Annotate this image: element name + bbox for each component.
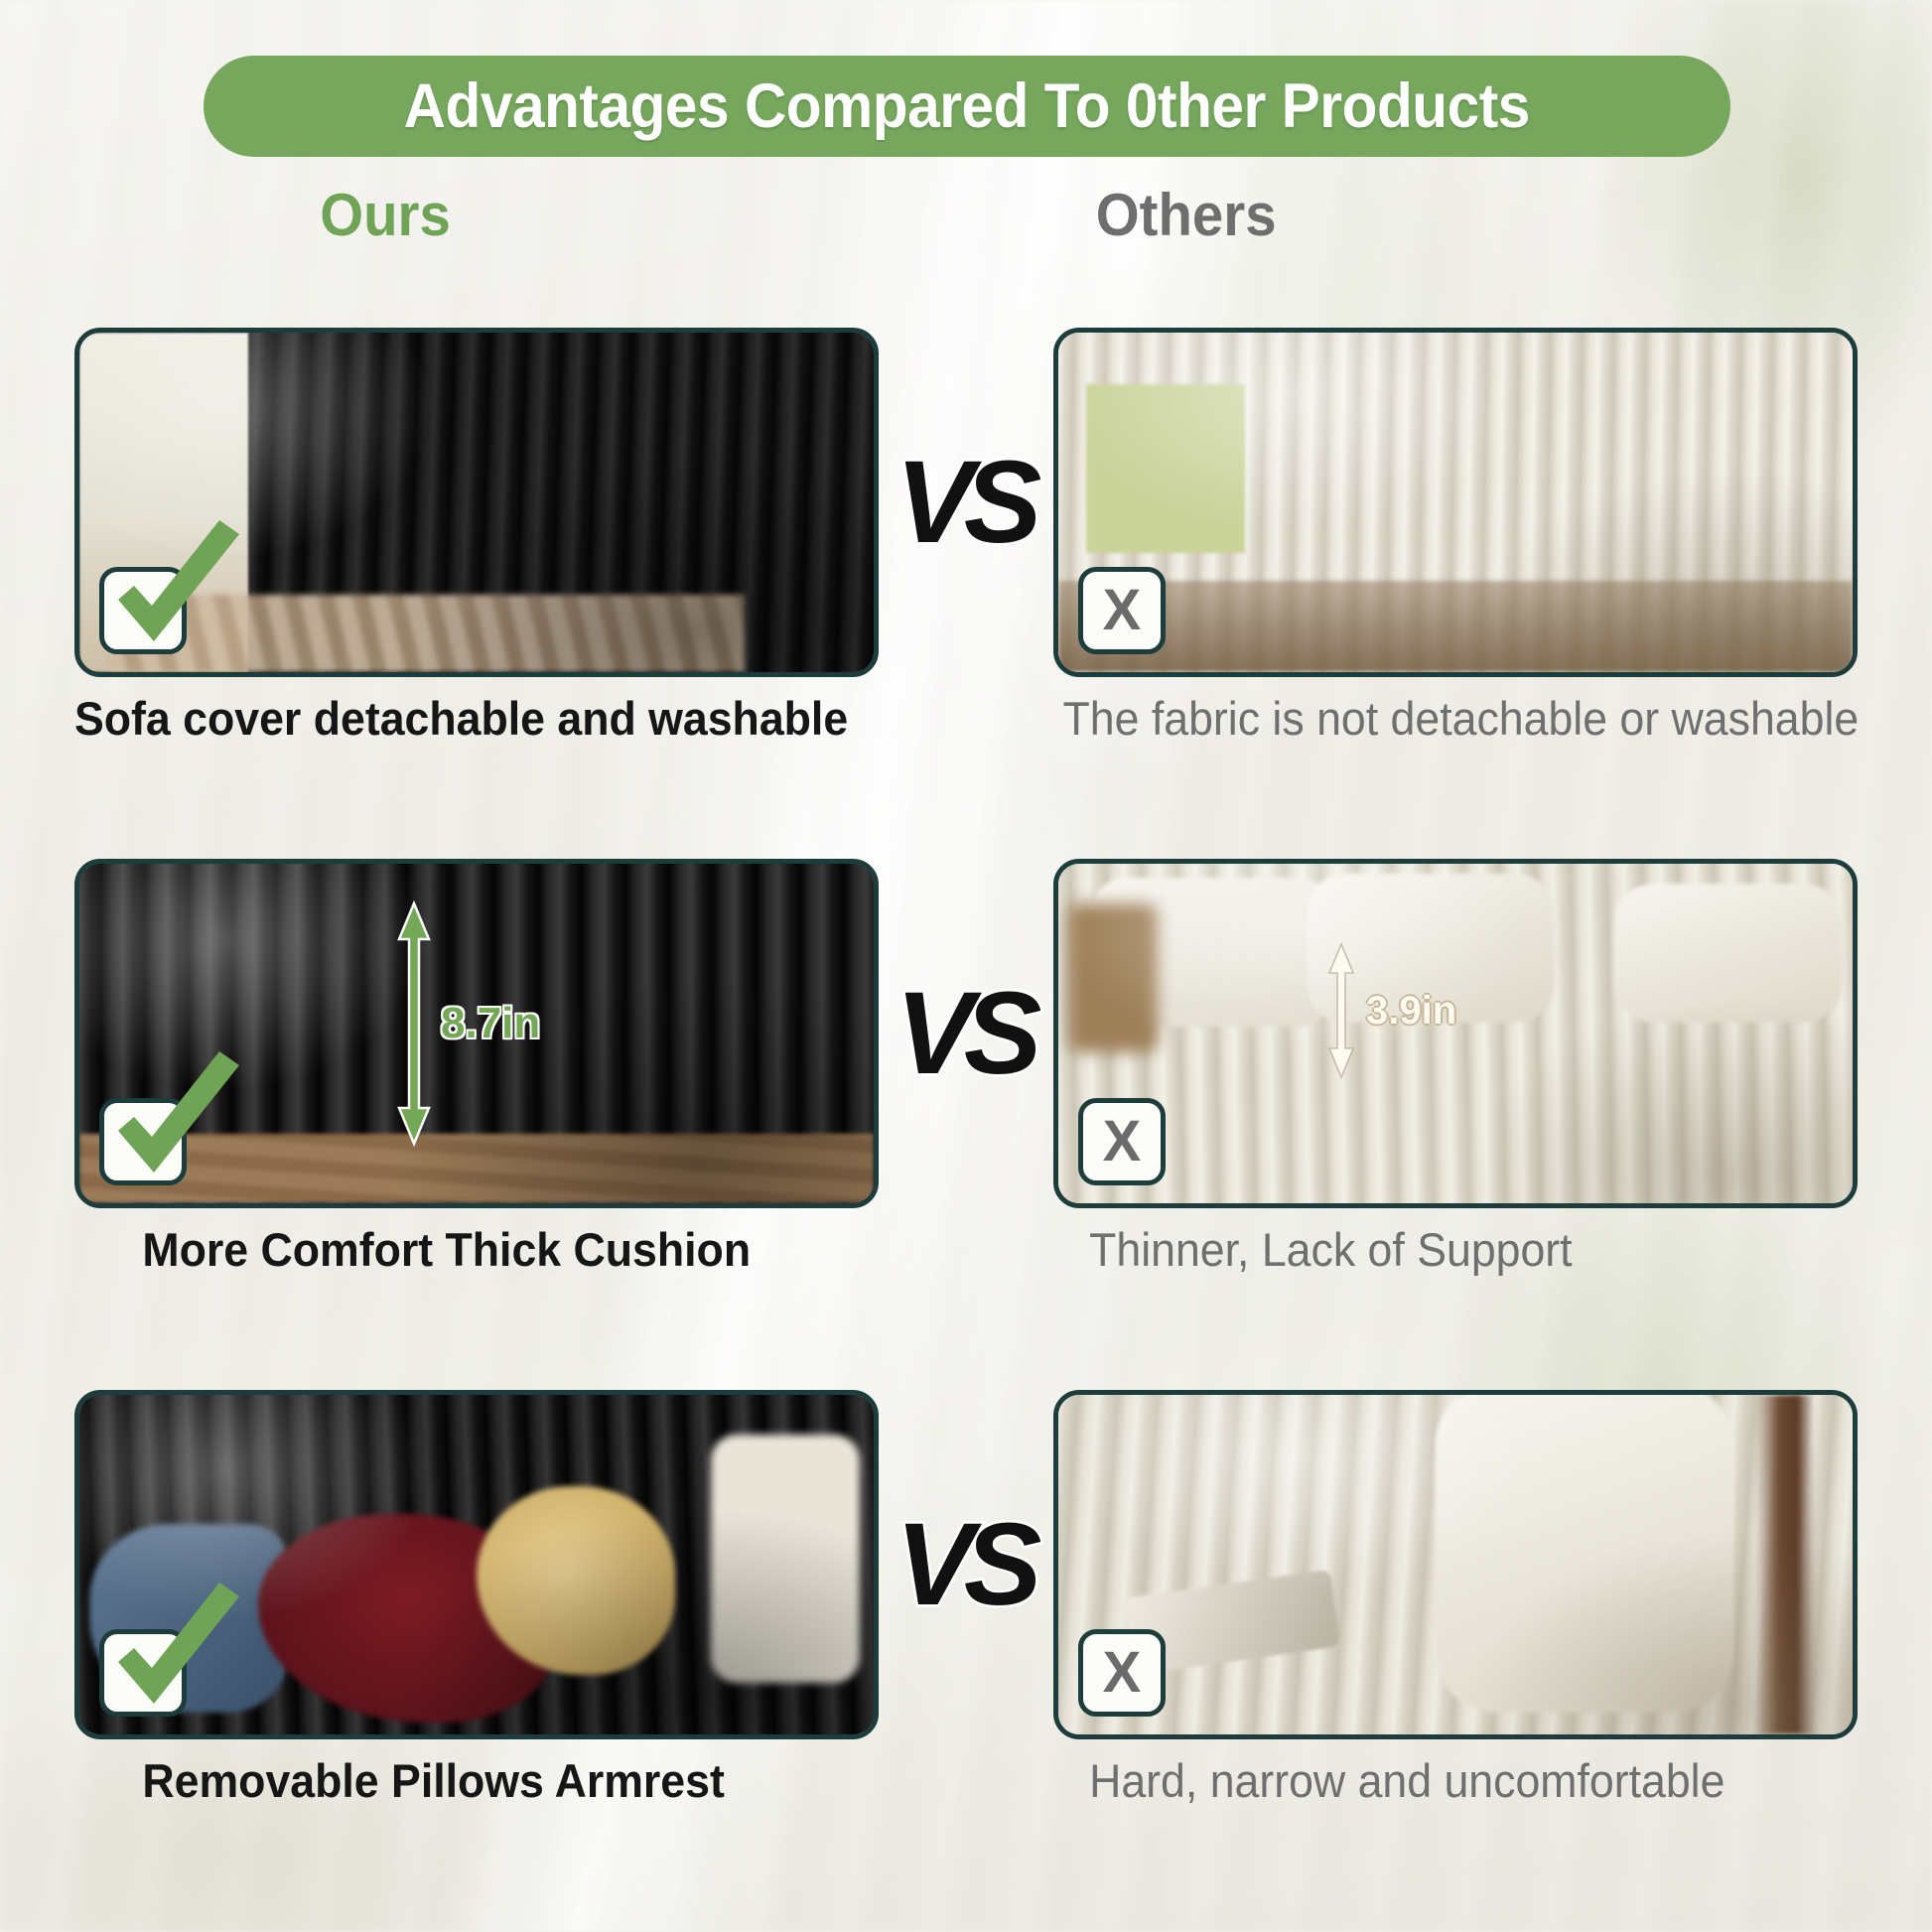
- caption-others: Thinner, Lack of Support: [1053, 1225, 1818, 1274]
- measurement-value-others: 3.9in: [1366, 991, 1456, 1031]
- check-icon: [108, 1069, 247, 1188]
- comparison-row: Removable Pillows Armrest VS: [0, 1390, 1932, 1921]
- photo-panel-ours: [74, 328, 879, 677]
- photo-lighting: [1058, 1395, 1853, 1734]
- comparison-infographic: Advantages Compared To 0ther Products Ou…: [0, 0, 1932, 1932]
- photo-lighting: [1058, 333, 1853, 672]
- status-badge-check: [99, 567, 187, 654]
- caption-ours: Removable Pillows Armrest: [74, 1756, 839, 1805]
- measurement-ours: 8.7in: [397, 899, 540, 1148]
- status-badge-x: X: [1078, 1098, 1166, 1185]
- measurement-value-ours: 8.7in: [441, 1002, 540, 1045]
- caption-ours: Sofa cover detachable and washable: [74, 694, 839, 743]
- cell-ours-detachable-cover: Sofa cover detachable and washable: [74, 328, 879, 743]
- x-icon: X: [1083, 1103, 1161, 1180]
- cell-others-pillow-armrest: X Hard, narrow and uncomfortable: [1053, 1390, 1858, 1805]
- caption-ours: More Comfort Thick Cushion: [74, 1225, 839, 1274]
- vs-icon: VS: [894, 970, 1062, 1099]
- column-header-others: Others: [1096, 181, 1277, 249]
- title-banner: Advantages Compared To 0ther Products: [204, 56, 1730, 157]
- comparison-row: 8.7in More Comfort Thick Cushion VS: [0, 859, 1932, 1390]
- photo-panel-others: X: [1053, 328, 1858, 677]
- check-icon: [108, 538, 247, 657]
- measurement-others: 3.9in: [1326, 941, 1456, 1080]
- svg-text:VS: VS: [896, 1501, 1041, 1630]
- caption-others: Hard, narrow and uncomfortable: [1053, 1756, 1818, 1805]
- double-arrow-icon: [397, 899, 431, 1148]
- status-badge-x: X: [1078, 1629, 1166, 1717]
- x-icon: X: [1083, 1634, 1161, 1712]
- svg-text:VS: VS: [896, 439, 1041, 568]
- vs-badge: VS: [894, 1501, 1062, 1630]
- comparison-row: Sofa cover detachable and washable VS: [0, 328, 1932, 859]
- svg-text:VS: VS: [896, 970, 1041, 1099]
- status-badge-check: [99, 1098, 187, 1185]
- cell-others-cushion-thickness: 3.9in X Thinner, Lack of Support: [1053, 859, 1858, 1274]
- check-icon: [108, 1600, 247, 1720]
- status-badge-x: X: [1078, 567, 1166, 654]
- cell-others-detachable-cover: X The fabric is not detachable or washab…: [1053, 328, 1858, 743]
- page-title: Advantages Compared To 0ther Products: [404, 70, 1530, 142]
- vs-badge: VS: [894, 970, 1062, 1099]
- vs-icon: VS: [894, 1501, 1062, 1630]
- vs-badge: VS: [894, 439, 1062, 568]
- cell-ours-pillow-armrest: Removable Pillows Armrest: [74, 1390, 879, 1805]
- vs-icon: VS: [894, 439, 1062, 568]
- status-badge-check: [99, 1629, 187, 1717]
- photo-panel-others: 3.9in X: [1053, 859, 1858, 1208]
- photo-panel-others: X: [1053, 1390, 1858, 1739]
- caption-others: The fabric is not detachable or washable: [1053, 694, 1818, 743]
- photo-panel-ours: 8.7in: [74, 859, 879, 1208]
- double-arrow-icon: [1326, 941, 1356, 1080]
- comparison-grid: Sofa cover detachable and washable VS: [0, 328, 1932, 1921]
- photo-panel-ours: [74, 1390, 879, 1739]
- x-icon: X: [1083, 572, 1161, 649]
- cell-ours-cushion-thickness: 8.7in More Comfort Thick Cushion: [74, 859, 879, 1274]
- column-header-ours: Ours: [320, 181, 451, 249]
